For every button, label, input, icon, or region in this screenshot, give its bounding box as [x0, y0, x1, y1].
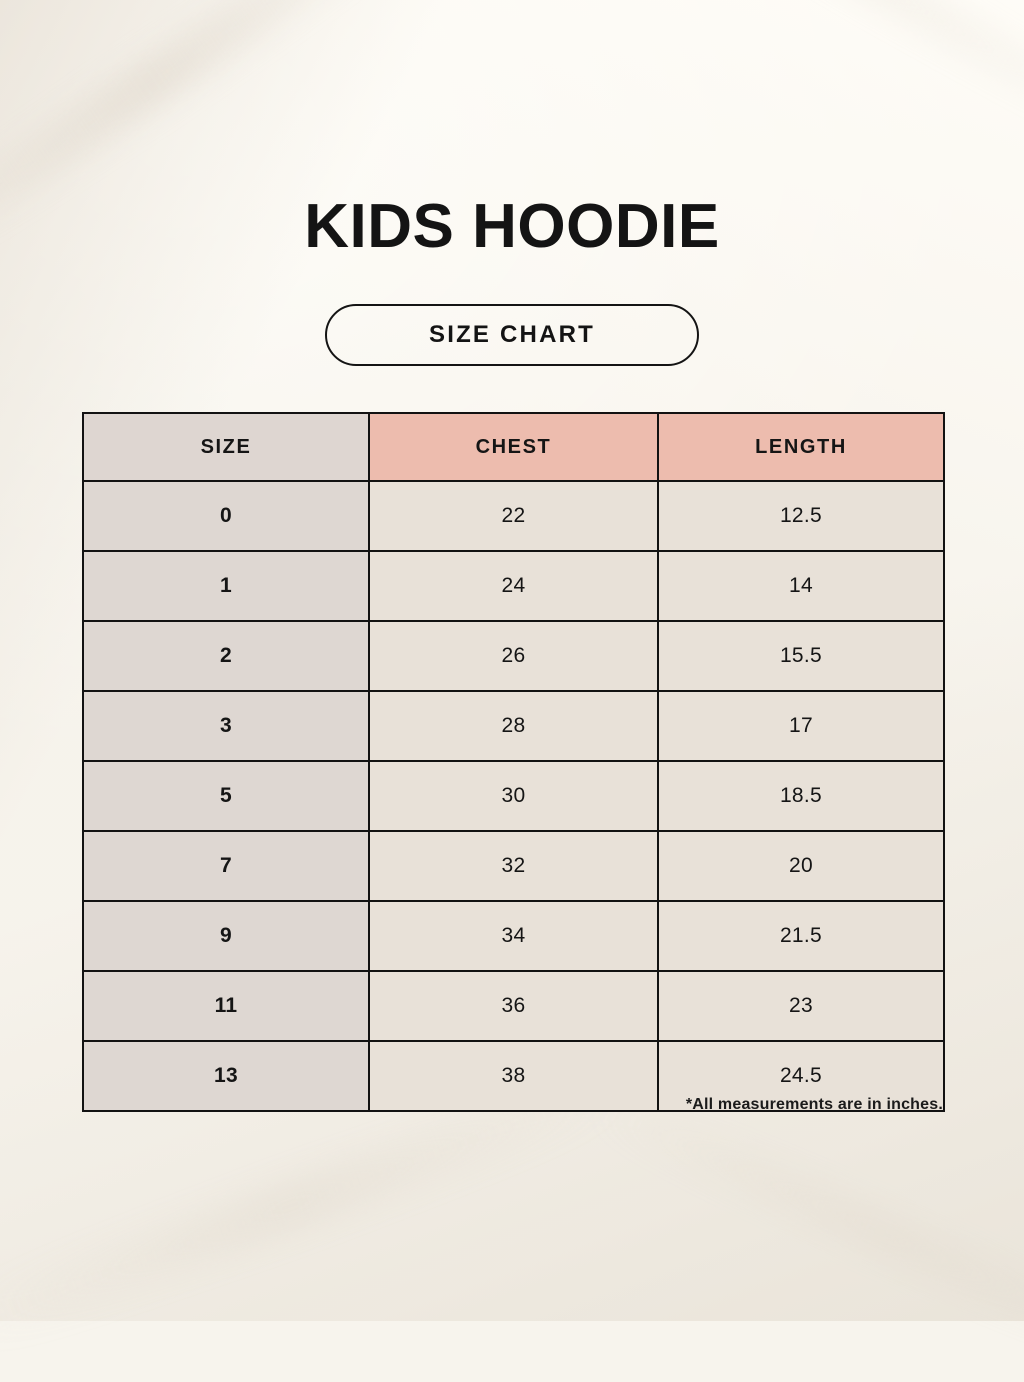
cell-length: 14 [658, 551, 944, 621]
badge-container: SIZE CHART [0, 304, 1024, 366]
cell-length: 21.5 [658, 901, 944, 971]
cell-size: 0 [83, 481, 369, 551]
column-header-chest: CHEST [369, 413, 658, 481]
cell-size: 2 [83, 621, 369, 691]
cell-chest: 32 [369, 831, 658, 901]
cell-chest: 22 [369, 481, 658, 551]
cell-size: 11 [83, 971, 369, 1041]
cell-length: 18.5 [658, 761, 944, 831]
page-header: KIDS HOODIE SIZE CHART [0, 196, 1024, 366]
cell-length: 17 [658, 691, 944, 761]
cell-size: 3 [83, 691, 369, 761]
size-table-container: SIZE CHEST LENGTH 0 22 12.5 1 24 14 2 [82, 412, 943, 1112]
cell-chest: 36 [369, 971, 658, 1041]
table-row: 3 28 17 [83, 691, 944, 761]
size-table-body: 0 22 12.5 1 24 14 2 26 15.5 3 28 17 [83, 481, 944, 1111]
page-title: KIDS HOODIE [0, 196, 1024, 258]
size-table: SIZE CHEST LENGTH 0 22 12.5 1 24 14 2 [82, 412, 945, 1112]
cell-length: 15.5 [658, 621, 944, 691]
cell-chest: 28 [369, 691, 658, 761]
cell-chest: 30 [369, 761, 658, 831]
size-chart-page: KIDS HOODIE SIZE CHART SIZE CHEST LENGTH [0, 0, 1024, 1321]
table-row: 0 22 12.5 [83, 481, 944, 551]
size-table-header: SIZE CHEST LENGTH [83, 413, 944, 481]
cell-chest: 24 [369, 551, 658, 621]
measurement-footnote: *All measurements are in inches. [82, 1096, 943, 1114]
size-chart-badge-label: SIZE CHART [429, 321, 595, 349]
cell-size: 5 [83, 761, 369, 831]
table-row: 1 24 14 [83, 551, 944, 621]
cell-length: 23 [658, 971, 944, 1041]
table-row: 9 34 21.5 [83, 901, 944, 971]
column-header-length: LENGTH [658, 413, 944, 481]
table-row: 5 30 18.5 [83, 761, 944, 831]
cell-size: 1 [83, 551, 369, 621]
cell-chest: 26 [369, 621, 658, 691]
cell-length: 12.5 [658, 481, 944, 551]
cell-size: 7 [83, 831, 369, 901]
table-header-row: SIZE CHEST LENGTH [83, 413, 944, 481]
cell-chest: 34 [369, 901, 658, 971]
cell-length: 20 [658, 831, 944, 901]
column-header-size: SIZE [83, 413, 369, 481]
table-row: 7 32 20 [83, 831, 944, 901]
table-row: 2 26 15.5 [83, 621, 944, 691]
cell-size: 9 [83, 901, 369, 971]
size-chart-badge: SIZE CHART [325, 304, 699, 366]
table-row: 11 36 23 [83, 971, 944, 1041]
